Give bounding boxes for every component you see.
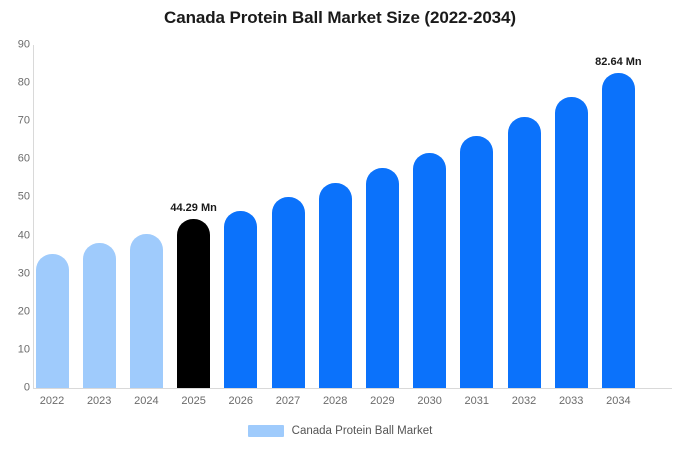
bar-group[interactable] [413, 45, 446, 388]
bar-group[interactable] [36, 45, 69, 388]
chart-title: Canada Protein Ball Market Size (2022-20… [0, 8, 680, 28]
bar-value-label-2034: 82.64 Mn [595, 57, 641, 68]
bar-group[interactable] [224, 45, 257, 388]
y-axis-tick-label: 20 [4, 306, 30, 317]
y-axis-tick-label: 30 [4, 268, 30, 279]
bar-group[interactable] [460, 45, 493, 388]
bar-group[interactable] [272, 45, 305, 388]
x-axis-tick-label: 2034 [588, 396, 648, 407]
bar-group[interactable] [319, 45, 352, 388]
y-axis-tick-label: 90 [4, 40, 30, 51]
bar-group[interactable] [177, 45, 210, 388]
plot-area [34, 45, 672, 388]
y-axis-tick-label: 50 [4, 192, 30, 203]
y-axis-ticks: 0102030405060708090 [0, 0, 30, 450]
legend-label: Canada Protein Ball Market [292, 425, 433, 437]
bar-2023[interactable] [83, 243, 116, 388]
y-axis-tick-label: 80 [4, 78, 30, 89]
chart-legend: Canada Protein Ball Market [0, 425, 680, 437]
x-axis-line [33, 388, 672, 389]
bar-group[interactable] [366, 45, 399, 388]
y-axis-tick-label: 0 [4, 383, 30, 394]
bar-2024[interactable] [130, 234, 163, 388]
legend-swatch-icon [248, 425, 284, 437]
bar-group[interactable] [555, 45, 588, 388]
bar-group[interactable] [130, 45, 163, 388]
bar-group[interactable] [83, 45, 116, 388]
bar-group[interactable] [508, 45, 541, 388]
bar-2031[interactable] [460, 136, 493, 388]
bar-2033[interactable] [555, 97, 588, 388]
bar-value-label-2025: 44.29 Mn [170, 203, 216, 214]
bar-2027[interactable] [272, 197, 305, 388]
bar-chart: Canada Protein Ball Market Size (2022-20… [0, 0, 680, 450]
y-axis-tick-label: 60 [4, 154, 30, 165]
y-axis-tick-label: 40 [4, 230, 30, 241]
bar-2026[interactable] [224, 211, 257, 388]
y-axis-tick-label: 10 [4, 344, 30, 355]
bar-2029[interactable] [366, 168, 399, 388]
y-axis-tick-label: 70 [4, 116, 30, 127]
bar-2028[interactable] [319, 183, 352, 388]
bar-2025[interactable] [177, 219, 210, 388]
bar-2032[interactable] [508, 117, 541, 388]
bar-2030[interactable] [413, 153, 446, 388]
bar-2034[interactable] [602, 73, 635, 388]
bar-group[interactable] [602, 45, 635, 388]
bar-2022[interactable] [36, 254, 69, 388]
